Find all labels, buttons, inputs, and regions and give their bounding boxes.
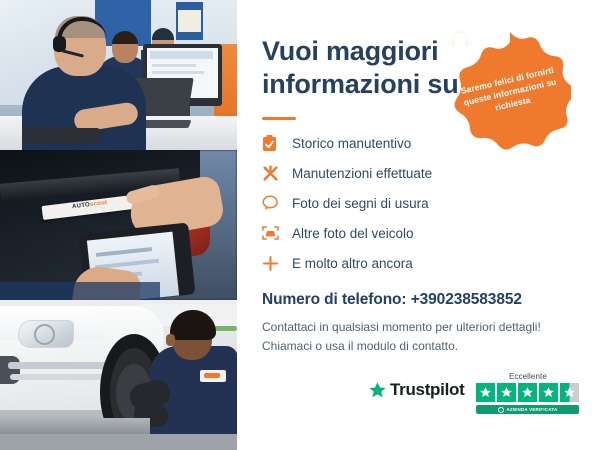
contact-subtext-line-1: Contattaci in qualsiasi momento per ulte…: [262, 318, 592, 337]
content-panel: Vuoi maggiori informazioni su ? Saremo f…: [237, 0, 600, 450]
verified-check-icon: [498, 407, 504, 413]
headlight-ring: [34, 324, 55, 345]
trustpilot-widget[interactable]: Trustpilot Eccellente: [368, 372, 586, 412]
trustpilot-star-icon: [368, 381, 387, 400]
promo-panel: AUTOscout: [0, 0, 600, 450]
garage-floor: [0, 434, 237, 450]
contact-subtext: Contattaci in qualsiasi momento per ulte…: [262, 318, 592, 355]
trustpilot-rating-label: Eccellente: [476, 372, 579, 381]
star-filled-icon: [476, 383, 495, 402]
feature-item-foto-segni-usura[interactable]: Foto dei segni di usura: [262, 188, 562, 218]
photo-column: AUTOscout: [0, 0, 237, 450]
clipboard-check-icon: [262, 132, 292, 154]
contact-subtext-line-2: Chiamaci o usa il modulo di contatto.: [262, 337, 592, 356]
speech-bubble-icon: [262, 192, 292, 214]
star-half-icon: [560, 383, 579, 402]
feature-list: Storico manutentivo Manutenzioni effettu…: [262, 128, 562, 278]
star-filled-icon: [497, 383, 516, 402]
verified-company-badge: AZIENDA VERIFICATA: [476, 405, 579, 414]
feature-item-storico-manutentivo[interactable]: Storico manutentivo: [262, 128, 562, 158]
trustpilot-brand-name: Trustpilot: [390, 380, 464, 400]
verified-label: AZIENDA VERIFICATA: [506, 407, 557, 412]
wrench-cross-icon: [262, 162, 292, 184]
lower-shadow: [0, 282, 160, 300]
trustpilot-rating: Eccellente: [476, 372, 579, 414]
photo-call-center-agents-with-headsets: [0, 0, 237, 150]
screen-line: [152, 71, 204, 74]
title-underline-divider: [262, 117, 296, 120]
trustpilot-stars: [476, 383, 579, 402]
star-filled-icon: [518, 383, 537, 402]
photo-technician-measuring-car-bumper-with-tablet: AUTOscout: [0, 150, 237, 300]
feature-item-manutenzioni-effettuate[interactable]: Manutenzioni effettuate: [262, 158, 562, 188]
feature-label: Altre foto del veicolo: [292, 226, 414, 241]
car-lift-arm: [0, 418, 150, 434]
feature-label: Manutenzioni effettuate: [292, 166, 432, 181]
phone-number[interactable]: Numero di telefono: +390238583852: [262, 291, 582, 309]
trustpilot-logo: Trustpilot: [368, 380, 464, 400]
car-scan-icon: [262, 222, 292, 244]
mechanic-ear: [166, 334, 175, 346]
car-bumper-bar: [8, 362, 118, 369]
screen-toolbar: [150, 51, 213, 59]
star-filled-icon: [539, 383, 558, 402]
wall-poster-inner: [178, 10, 201, 32]
desk-tablet: [22, 128, 100, 144]
plus-icon: [262, 252, 292, 274]
feature-label: E molto altro ancora: [292, 256, 413, 271]
uniform-logo-mark: [204, 373, 220, 378]
car-bumper-bar: [10, 374, 114, 380]
feature-label: Foto dei segni di usura: [292, 196, 429, 211]
screen-line: [152, 64, 196, 67]
feature-item-altre-foto-veicolo[interactable]: Altre foto del veicolo: [262, 218, 562, 248]
feature-label: Storico manutentivo: [292, 136, 411, 151]
feature-item-molto-altro[interactable]: E molto altro ancora: [262, 248, 562, 278]
photo-mechanic-inspecting-wheel-of-lifted-white-car: [0, 300, 237, 450]
headset-icon: [449, 28, 471, 50]
